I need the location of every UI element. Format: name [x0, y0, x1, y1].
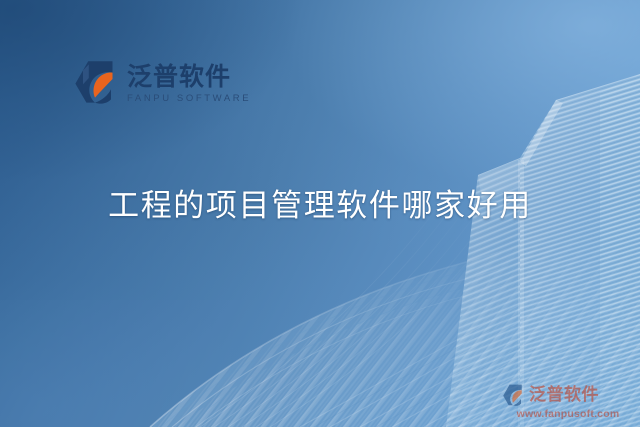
watermark-brand-row: 泛普软件	[502, 384, 634, 407]
page-title: 工程的项目管理软件哪家好用	[0, 189, 640, 224]
watermark: 泛普软件 www.fanpusoft.com	[502, 384, 634, 420]
fanpu-hexagon-sail-logo-icon	[74, 60, 118, 106]
watermark-url: www.fanpusoft.com	[502, 409, 634, 420]
fanpu-watermark-logo-icon	[502, 384, 525, 407]
watermark-brand-cn: 泛普软件	[529, 387, 599, 404]
brand-name-cn: 泛普软件	[127, 64, 251, 89]
brand-name-en: FANPU SOFTWARE	[127, 94, 251, 104]
brand-logo: 泛普软件 FANPU SOFTWARE	[74, 60, 251, 106]
banner-image: 泛普软件 FANPU SOFTWARE 工程的项目管理软件哪家好用 泛普软件 w…	[0, 0, 640, 427]
brand-logo-text: 泛普软件 FANPU SOFTWARE	[127, 63, 251, 104]
